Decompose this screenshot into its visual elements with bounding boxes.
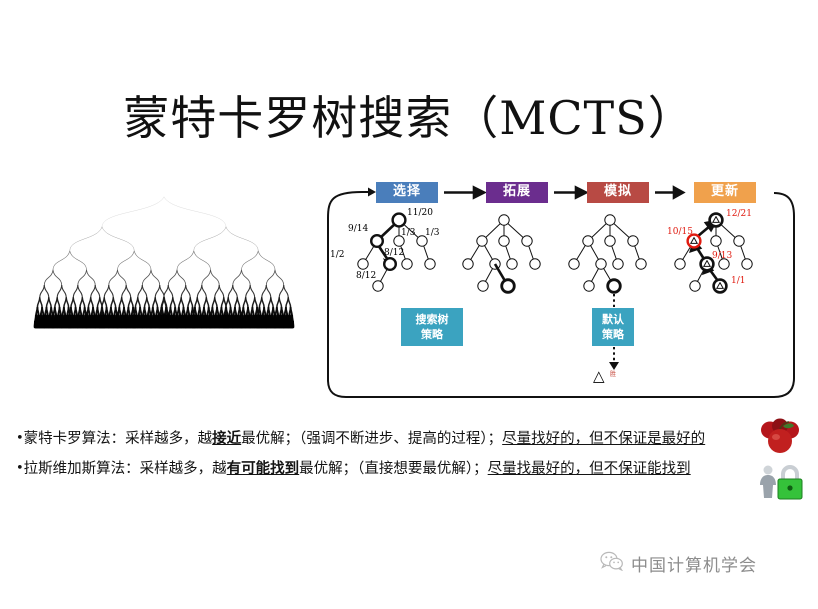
node-value-root-selection: 11/20 (407, 209, 433, 218)
footer-text: 中国计算机学会 (631, 551, 757, 576)
node-value-left-child-selection: 9/14 (348, 225, 368, 234)
bullet-las-vegas: •拉斯维加斯算法：采样越多，越有可能找到最优解；（直接想要最优解）；尽量找最好的… (16, 454, 776, 484)
node-value-gc-right-selection: 8/12 (384, 249, 396, 258)
node-value-leaf-selection: 8/12 (356, 272, 368, 281)
bullet-marker-0: • (16, 431, 24, 446)
mcts-phase-diagram: 选择 拓展 模拟 更新 搜索树 策略 默认 策略 11/20 9/14 1/3 … (322, 176, 804, 404)
node-value-gc-left-selection: 1/2 (330, 251, 344, 260)
wechat-logo-icon (600, 551, 624, 576)
strategy-box-default-policy[interactable]: 默认 策略 (592, 308, 634, 346)
phase-box-simulation[interactable]: 模拟 (587, 182, 649, 203)
footer: 中国计算机学会 (600, 548, 757, 578)
bullet-marker-1: • (16, 461, 24, 476)
node-value-mid-child-selection: 1/3 (401, 229, 411, 238)
node-value-left-child-update: 10/15 (667, 228, 693, 237)
node-value-right-child-selection: 1/3 (425, 229, 435, 238)
page-title: 蒙特卡罗树搜索（MCTS） (0, 92, 818, 144)
phase-box-expansion[interactable]: 拓展 (486, 182, 548, 203)
bullet-monte-carlo: •蒙特卡罗算法：采样越多，越接近最优解；（强调不断进步、提高的过程）；尽量找好的… (16, 424, 776, 454)
bullet-1-seg2: 最优解；（直接想要最优解）； (299, 461, 488, 477)
person-with-green-lock-image (757, 462, 805, 502)
binary-search-tree-fractal (18, 193, 310, 398)
red-apples-image (757, 417, 805, 459)
rollout-result-annotation: 胜 (610, 372, 616, 379)
strategy-box-tree-policy[interactable]: 搜索树 策略 (401, 308, 463, 346)
bullet-0-tail: 尽量找好的，但不保证是最好的 (502, 431, 705, 447)
bullet-1-tail: 尽量找最好的，但不保证能找到 (488, 461, 691, 477)
tree-policy-line2: 策略 (421, 327, 443, 342)
bullet-0-seg1: 蒙特卡罗算法：采样越多，越 (24, 431, 213, 447)
phase-box-backpropagation[interactable]: 更新 (694, 182, 756, 203)
bullet-1-emphasis: 有可能找到 (227, 460, 300, 477)
node-value-root-update: 12/21 (726, 210, 740, 219)
node-value-leaf-update: 1/1 (731, 277, 741, 286)
phase-box-selection[interactable]: 选择 (376, 182, 438, 203)
bullet-0-emphasis: 接近 (212, 430, 241, 447)
rollout-result-triangle-icon: △ (593, 369, 605, 384)
default-policy-line1: 默认 (602, 312, 624, 327)
default-policy-line2: 策略 (602, 327, 624, 342)
slide-canvas: 蒙特卡罗树搜索（MCTS） (0, 0, 818, 609)
node-value-grandchild-update: 9/13 (712, 252, 732, 261)
bullet-1-seg1: 拉斯维加斯算法：采样越多，越 (24, 461, 227, 477)
tree-policy-line1: 搜索树 (416, 312, 449, 327)
bullet-list: •蒙特卡罗算法：采样越多，越接近最优解；（强调不断进步、提高的过程）；尽量找好的… (16, 424, 776, 484)
bullet-0-seg2: 最优解；（强调不断进步、提高的过程）； (241, 431, 502, 447)
